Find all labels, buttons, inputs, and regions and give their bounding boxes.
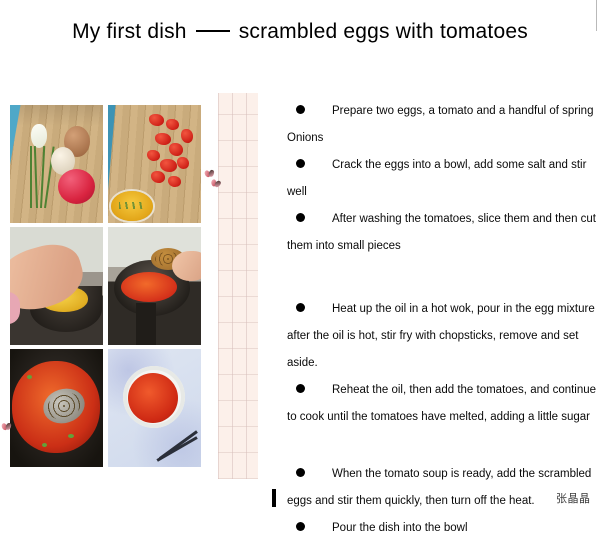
group-spacer <box>287 431 600 461</box>
instruction-text: Heat up the oil in a hot wok, pour in th… <box>287 303 595 369</box>
instruction-step: After washing the tomatoes, slice them a… <box>287 206 600 260</box>
page-title: My first dishscrambled eggs with tomatoe… <box>0 20 600 44</box>
tomato-chunk <box>166 119 179 130</box>
page-title-left: My first dish <box>72 20 187 43</box>
instruction-step: Prepare two eggs, a tomato and a handful… <box>287 98 600 152</box>
bullet-icon <box>296 384 305 393</box>
tomato-shape <box>58 169 95 204</box>
instruction-step: When the tomato soup is ready, add the s… <box>287 461 600 515</box>
instruction-step: Pour the dish into the bowl <box>287 515 600 542</box>
butterfly-icon <box>210 179 222 190</box>
bullet-icon <box>296 522 305 531</box>
instructions-panel: Prepare two eggs, a tomato and a handful… <box>287 98 600 542</box>
tomato-chunk <box>169 143 183 156</box>
instruction-group-cooking: Heat up the oil in a hot wok, pour in th… <box>287 296 600 431</box>
tomato-chunk <box>160 159 177 172</box>
bullet-icon <box>296 159 305 168</box>
photo-finished-bowl <box>108 349 201 467</box>
butterfly-icon <box>204 169 215 179</box>
instruction-text: Reheat the oil, then add the tomatoes, a… <box>287 384 596 423</box>
butterfly-icon <box>2 423 13 433</box>
instruction-text: After washing the tomatoes, slice them a… <box>287 213 596 252</box>
tomato-chunk <box>151 171 165 183</box>
instruction-text: Crack the eggs into a bowl, add some sal… <box>287 159 586 198</box>
bullet-icon <box>296 303 305 312</box>
photo-collage <box>10 105 201 467</box>
bullet-icon <box>296 105 305 114</box>
scallion-shape <box>30 124 50 208</box>
chopsticks-shape <box>157 420 197 460</box>
tomato-chunk <box>155 133 171 145</box>
photo-frying-tomatoes <box>108 227 201 345</box>
instruction-text: Prepare two eggs, a tomato and a handful… <box>287 105 593 144</box>
title-dash <box>196 30 230 32</box>
tomato-chunk <box>149 114 164 126</box>
tomato-chunk <box>181 129 193 143</box>
instruction-text: Pour the dish into the bowl <box>332 522 468 534</box>
instruction-group-preparation: Prepare two eggs, a tomato and a handful… <box>287 98 600 260</box>
instruction-step: Crack the eggs into a bowl, add some sal… <box>287 152 600 206</box>
photo-ingredients <box>10 105 103 223</box>
instruction-step: Reheat the oil, then add the tomatoes, a… <box>287 377 600 431</box>
instruction-text: When the tomato soup is ready, add the s… <box>287 468 591 507</box>
beaten-egg-bowl-shape <box>111 191 153 221</box>
group-spacer <box>287 260 600 296</box>
text-cursor[interactable] <box>272 489 276 507</box>
bullet-icon <box>296 468 305 477</box>
tomato-sauce-shape <box>121 272 177 302</box>
instruction-group-finishing: When the tomato soup is ready, add the s… <box>287 461 600 542</box>
photo-combining <box>10 349 103 467</box>
hand-shape <box>172 251 201 281</box>
decorative-paper-strip <box>218 93 258 479</box>
stove-shape <box>136 303 156 345</box>
photo-frying-egg <box>10 227 103 345</box>
photo-chopped-tomatoes <box>108 105 201 223</box>
tomato-chunk <box>147 150 160 161</box>
instruction-step: Heat up the oil in a hot wok, pour in th… <box>287 296 600 377</box>
author-signature: 张晶晶 <box>556 490 591 506</box>
scallion-bit <box>68 434 74 438</box>
tomato-chunk <box>168 176 181 187</box>
scallion-bit <box>27 375 32 379</box>
finished-dish-shape <box>128 373 178 423</box>
tomato-chunk <box>177 157 189 169</box>
bullet-icon <box>296 213 305 222</box>
page-title-right: scrambled eggs with tomatoes <box>239 20 528 43</box>
